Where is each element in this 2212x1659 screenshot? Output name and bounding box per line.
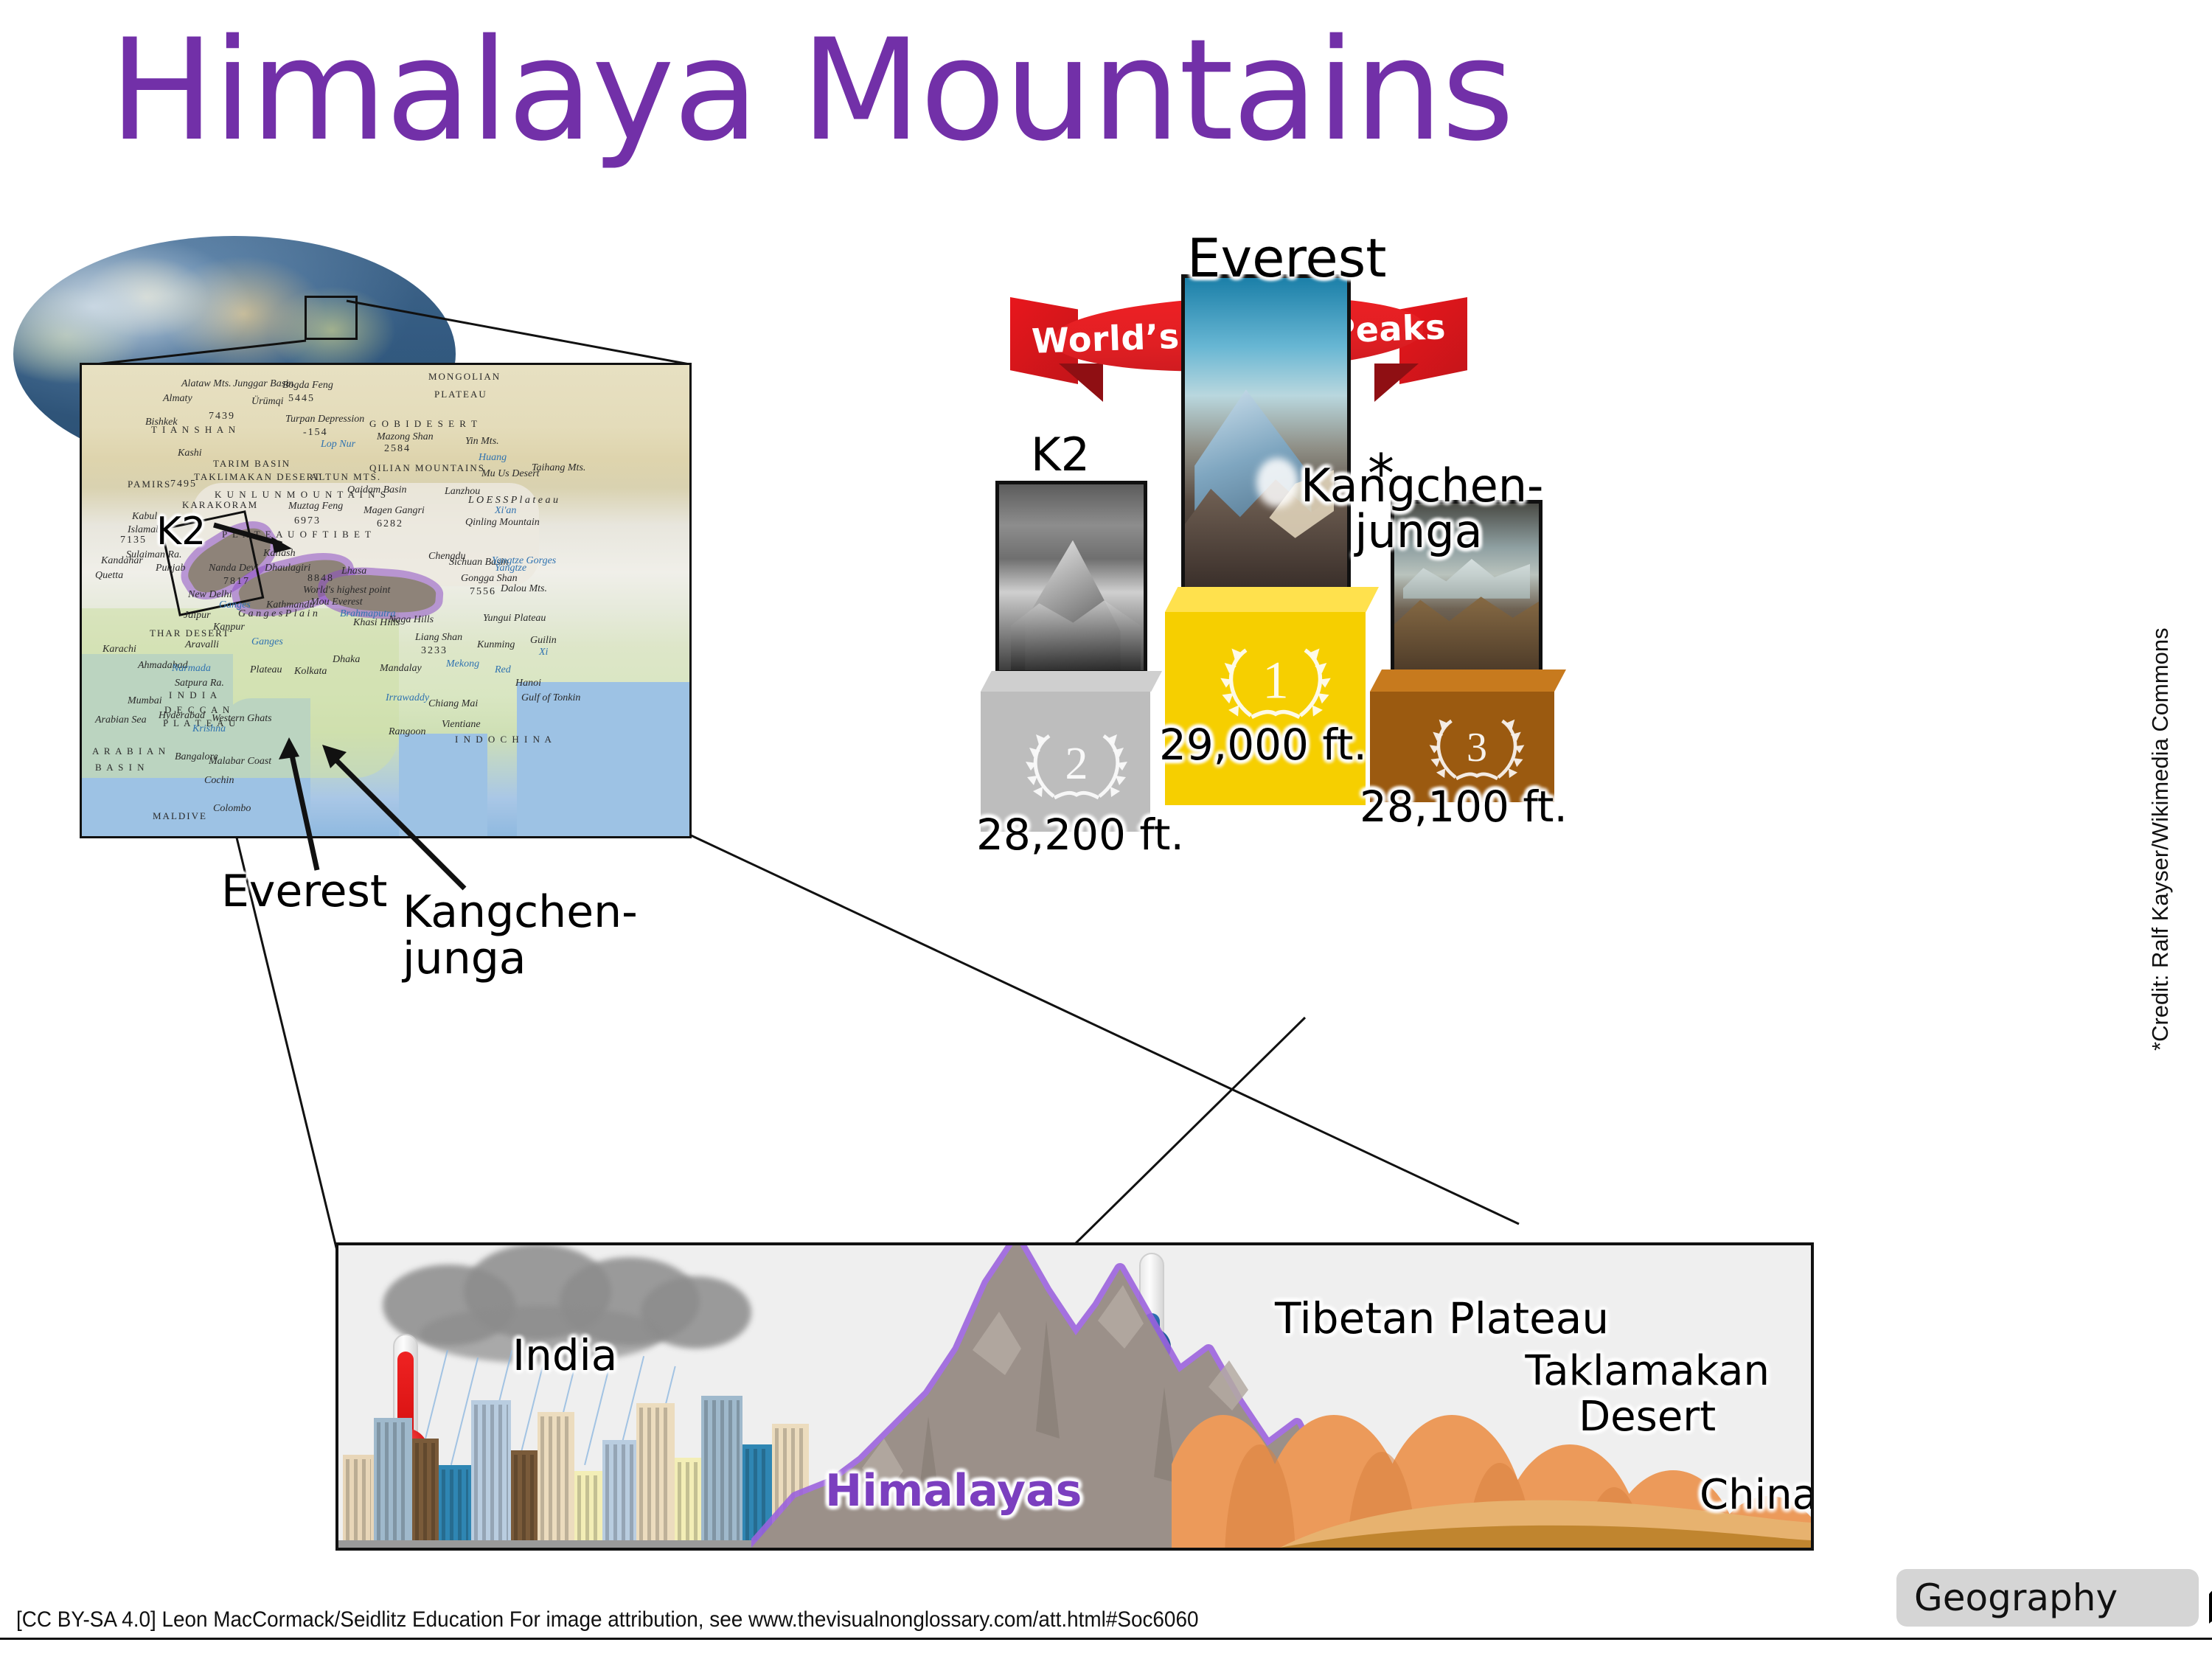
map-place-label: 5445 <box>288 393 315 405</box>
tallest-peaks-podium-chart: K2 2 28,200 ft <box>981 413 1836 885</box>
map-place-label: Plateau <box>250 664 282 676</box>
map-place-label: Naga Hills <box>389 614 434 626</box>
podium-column-kangchenjunga: Kangchen- junga 3 2 <box>1370 531 1584 885</box>
map-place-label: -154 <box>303 427 328 439</box>
map-place-label: Huang <box>479 452 507 464</box>
map-place-label: Mazong Shan <box>377 431 434 443</box>
map-place-label: QILIAN MOUNTAINS <box>369 462 485 474</box>
map-place-label: 7556 <box>470 586 496 598</box>
map-place-label: Turpan Depression <box>285 414 364 425</box>
map-pin-icon <box>2206 1579 2212 1625</box>
south-china-sea-water <box>399 734 487 838</box>
map-place-label: 7495 <box>170 479 197 490</box>
podium-column-k2: K2 2 28,200 ft <box>981 487 1172 885</box>
laurel-wreath-icon: 1 <box>1206 634 1346 730</box>
map-place-label: THAR DESERT <box>150 627 230 639</box>
map-place-label: Quetta <box>95 570 123 582</box>
map-place-label: A R A B I A N <box>92 745 167 757</box>
map-place-label: T I A N S H A N <box>151 424 237 436</box>
map-place-label: Malabar Coast <box>209 756 271 768</box>
map-place-label: Mu Us Desert <box>481 468 540 480</box>
map-place-label: Taihang Mts. <box>532 462 585 474</box>
map-place-label: Almaty <box>163 393 192 405</box>
xsec-label-china: China <box>1700 1472 1814 1518</box>
k2-block-top <box>981 671 1162 692</box>
map-place-label: Narmada <box>172 663 211 675</box>
map-place-label: Bogda Feng <box>282 380 333 392</box>
map-place-label: Qaidam Basin <box>347 484 407 496</box>
map-place-label: P L A T E A U O F T I B E T <box>222 529 372 540</box>
map-place-label: Chengdu <box>428 551 466 563</box>
map-place-label: 7439 <box>209 411 235 422</box>
kangchenjunga-medal-wreath: 3 <box>1370 708 1584 789</box>
k2-height-label: 28,200 ft. <box>976 810 1184 860</box>
map-place-label: Colombo <box>213 803 251 815</box>
map-place-label: G a n g e s P l a i n <box>238 608 318 620</box>
map-place-label: Karachi <box>102 644 136 655</box>
cross-section-diagram[interactable]: India Himalayas Tibetan Plateau China Ta… <box>335 1242 1814 1551</box>
map-place-label: 6282 <box>377 518 403 530</box>
xsec-label-tibetan-plateau: Tibetan Plateau <box>1275 1295 1609 1343</box>
kangchenjunga-block-top <box>1370 669 1566 692</box>
map-place-label: 7817 <box>223 576 250 588</box>
map-place-label: Yungui Plateau <box>483 613 546 625</box>
map-place-label: I N D I A <box>169 689 218 701</box>
map-place-label: Krishna <box>192 723 226 735</box>
everest-height-label: 29,000 ft. <box>1159 720 1367 770</box>
podium-label-k2: K2 <box>1031 432 1090 478</box>
kangchenjunga-rank-number: 3 <box>1467 725 1487 771</box>
map-place-label: Dhaulagiri <box>265 563 310 574</box>
xsec-label-india: India <box>512 1332 617 1380</box>
map-place-label: Gulf of Tonkin <box>521 692 580 704</box>
map-place-label: Yin Mts. <box>465 436 499 448</box>
map-place-label: PAMIRS <box>128 479 171 490</box>
footer-divider <box>0 1638 2212 1640</box>
regional-relief-map[interactable]: Junggar BasinBogda Feng5445ÜrümqiAlataw … <box>80 363 692 838</box>
map-place-label: Ganges <box>251 636 283 648</box>
map-place-label: 8848 <box>307 573 334 585</box>
k2-photo <box>995 481 1147 674</box>
map-annotation-k2: K2 <box>156 512 206 552</box>
kangchenjunga-height-label: 28,100 ft. <box>1360 782 1568 832</box>
footer-attribution: [CC BY-SA 4.0] Leon MacCormack/Seidlitz … <box>16 1607 1198 1632</box>
k2-rank-number: 2 <box>1065 739 1088 789</box>
gulf-of-tonkin-water <box>517 682 692 838</box>
map-place-label: Kandahar <box>101 555 143 567</box>
podium-label-everest: Everest <box>1187 232 1386 285</box>
map-place-label: Jaipur <box>184 610 211 622</box>
map-place-label: I N D O C H I N A <box>455 734 553 745</box>
map-place-label: TARIM BASIN <box>213 458 291 470</box>
laurel-wreath-icon: 3 <box>1418 707 1536 790</box>
podium-label-kangchenjunga: Kangchen- junga <box>1301 463 1537 554</box>
map-place-label: Liang Shan <box>415 632 462 644</box>
map-annotation-everest: Everest <box>221 869 387 915</box>
map-place-label: Vientiane <box>442 719 481 731</box>
map-place-label: Yangtze <box>495 563 526 574</box>
map-place-label: Lop Nur <box>321 439 355 451</box>
map-place-label: Rangoon <box>389 726 426 738</box>
map-place-label: Mou Everest <box>310 597 363 608</box>
map-place-label: Arabian Sea <box>95 714 147 726</box>
map-place-label: G O B I D E S E R T <box>369 418 479 430</box>
map-place-label: Chiang Mai <box>428 698 478 710</box>
map-place-label: Aravalli <box>185 639 219 651</box>
map-place-label: Kashi <box>178 448 202 459</box>
map-place-label: Mandalay <box>380 663 422 675</box>
map-place-label: Guilin <box>530 635 557 647</box>
map-place-label: Alataw Mts. <box>181 378 232 390</box>
ribbon-fold-right <box>1374 364 1419 402</box>
laurel-wreath-icon: 2 <box>1014 721 1139 810</box>
map-place-label: Kunming <box>477 639 515 651</box>
india-city-skyline <box>338 1393 810 1548</box>
map-place-label: MALDIVE <box>153 810 207 822</box>
map-place-label: Muztag Feng <box>288 501 343 512</box>
map-place-label: Dalou Mts. <box>501 583 547 595</box>
map-place-label: Ürümqi <box>251 396 284 408</box>
map-place-label: Kailash <box>263 548 296 560</box>
map-place-label: Irrawaddy <box>386 692 429 704</box>
map-place-label: Hyderabad <box>159 710 205 722</box>
map-place-label: Punjab <box>156 563 185 574</box>
map-place-label: Xi <box>539 647 548 658</box>
subject-badge[interactable]: Geography <box>1896 1569 2199 1627</box>
k2-medal-wreath: 2 <box>981 721 1172 810</box>
map-place-label: Magen Gangri <box>364 505 425 517</box>
ribbon-fold-left <box>1059 364 1103 402</box>
map-place-label: Red <box>495 664 511 676</box>
xsec-label-taklamakan-desert: Taklamakan Desert <box>1525 1349 1770 1439</box>
globe-region-callout-box <box>305 296 358 340</box>
map-place-label: Cochin <box>204 775 234 787</box>
everest-rank-number: 1 <box>1262 652 1289 710</box>
map-place-label: 2584 <box>384 443 411 455</box>
map-place-label: Lhasa <box>341 566 366 577</box>
everest-footnote-marker: * <box>1368 442 1394 504</box>
map-place-label: World's highest point <box>303 585 390 597</box>
xsec-label-himalayas: Himalayas <box>825 1467 1082 1515</box>
map-place-label: Xi'an <box>495 505 516 517</box>
map-place-label: Hanoi <box>515 678 541 689</box>
map-place-label: Satpura Ra. <box>175 678 224 689</box>
map-place-label: PLATEAU <box>434 389 487 400</box>
map-place-label: Dhaka <box>333 654 360 666</box>
map-place-label: Kabul <box>132 511 157 523</box>
everest-block-top <box>1165 587 1379 612</box>
page-title: Himalaya Mountains <box>0 21 1622 161</box>
map-place-label: 3233 <box>421 645 448 657</box>
map-place-label: Mekong <box>446 658 479 670</box>
subject-badge-label: Geography <box>1914 1576 2118 1619</box>
map-annotation-kangchenjunga: Kangchen- junga <box>403 889 638 982</box>
map-place-label: 6973 <box>294 515 321 527</box>
map-place-label: MONGOLIAN <box>428 371 501 383</box>
image-credit: *Credit: Ralf Kayser/Wikimedia Commons <box>2147 667 2191 1051</box>
map-place-label: Kolkata <box>294 666 327 678</box>
map-place-label: Mumbai <box>128 695 162 707</box>
map-place-label: B A S I N <box>95 762 146 773</box>
map-place-label: 7135 <box>120 535 147 546</box>
map-place-label: TAKLIMAKAN DESERT <box>194 471 321 483</box>
everest-medal-wreath: 1 <box>1165 634 1386 730</box>
map-place-label: Qinling Mountain <box>465 517 540 529</box>
map-place-label: Nanda Devi <box>209 563 258 574</box>
